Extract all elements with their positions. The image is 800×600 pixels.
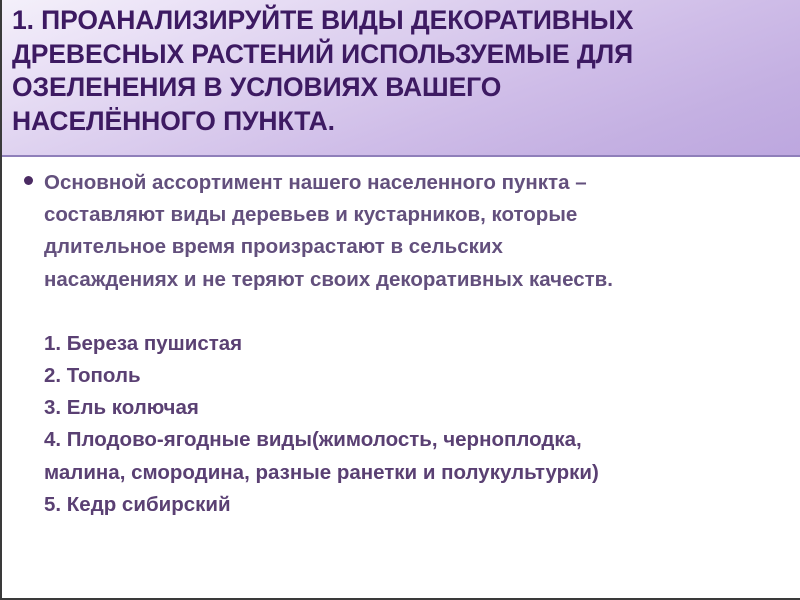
list-item: 5. Кедр сибирский bbox=[44, 489, 784, 521]
list-item: 2. Тополь bbox=[44, 360, 784, 392]
intro-paragraph: Основной ассортимент нашего населенного … bbox=[44, 167, 784, 296]
bullet-dot-icon bbox=[24, 176, 33, 185]
bullet-content: Основной ассортимент нашего населенного … bbox=[44, 167, 784, 521]
slide-title-banner: 1. ПРОАНАЛИЗИРУЙТЕ ВИДЫ ДЕКОРАТИВНЫХ ДРЕ… bbox=[2, 0, 800, 157]
slide-content-area: Основной ассортимент нашего населенного … bbox=[2, 157, 800, 598]
slide-title: 1. ПРОАНАЛИЗИРУЙТЕ ВИДЫ ДЕКОРАТИВНЫХ ДРЕ… bbox=[12, 4, 772, 138]
bullet-list-item: Основной ассортимент нашего населенного … bbox=[24, 167, 784, 521]
species-list: 1. Береза пушистая 2. Тополь 3. Ель колю… bbox=[44, 328, 784, 521]
list-item: 3. Ель колючая bbox=[44, 392, 784, 424]
list-item: 4. Плодово-ягодные виды(жимолость, черно… bbox=[44, 424, 784, 488]
list-item: 1. Береза пушистая bbox=[44, 328, 784, 360]
presentation-slide: 1. ПРОАНАЛИЗИРУЙТЕ ВИДЫ ДЕКОРАТИВНЫХ ДРЕ… bbox=[0, 0, 800, 600]
